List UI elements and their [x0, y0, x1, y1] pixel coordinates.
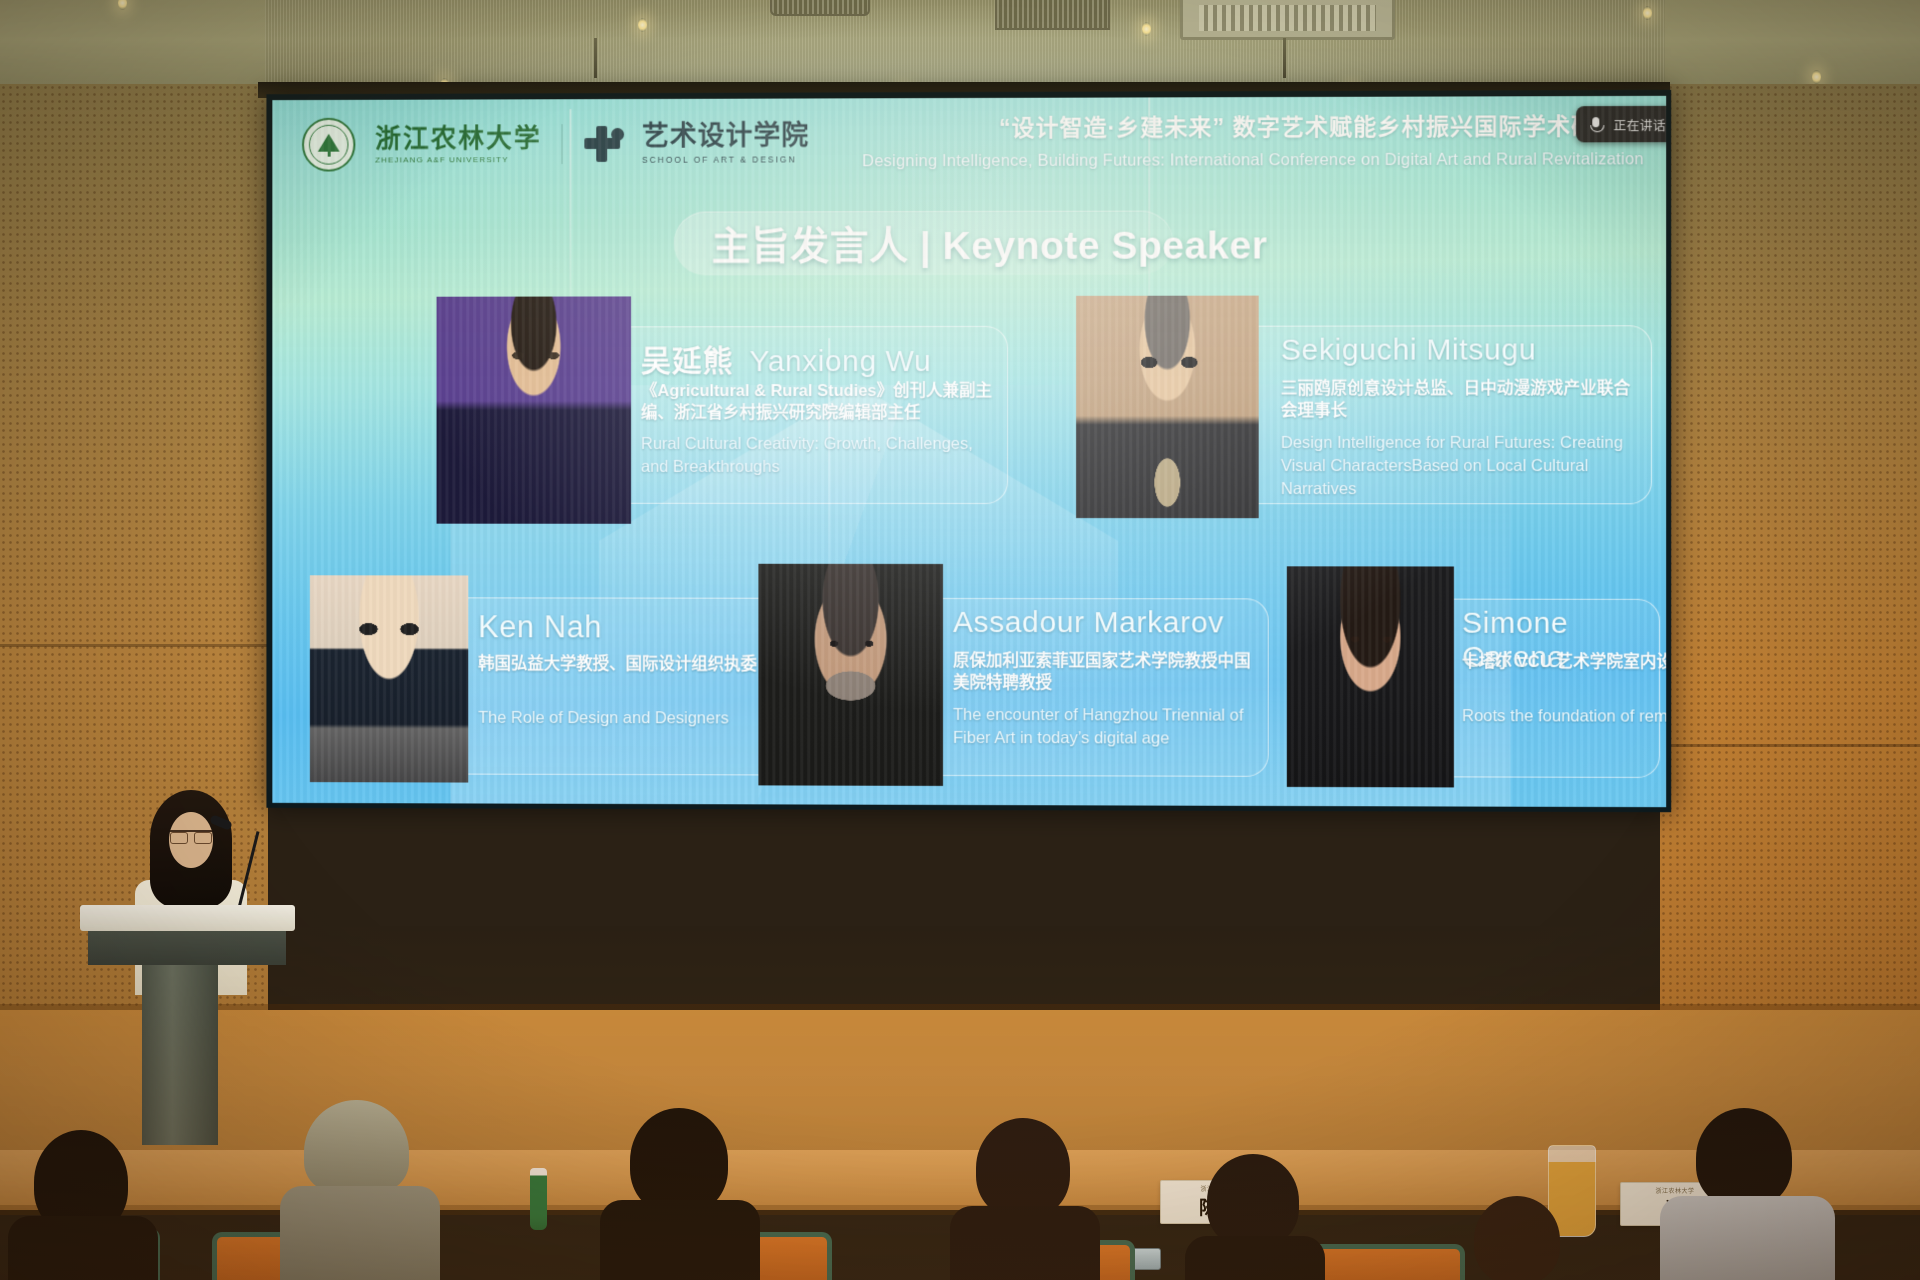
audience-head [976, 1118, 1070, 1218]
wall-seam [1660, 744, 1920, 747]
speaker-5-topic: Roots the foundation of remixing [1462, 705, 1666, 729]
audience-torso [950, 1206, 1100, 1280]
audience-torso [600, 1200, 760, 1280]
university-seal-icon [302, 118, 355, 172]
auditorium-scene: 浙江农林大学 ZHEJIANG A&F UNIVERSITY 艺术设计学院 SC… [0, 0, 1920, 1280]
speaker-3-affiliation: 韩国弘益大学教授、国际设计组织执委 [478, 653, 776, 676]
ceiling-hanger-left [594, 38, 597, 78]
audience-member [280, 1100, 440, 1280]
ceiling-spotlight [118, 0, 127, 10]
ceiling-vent-round [770, 0, 870, 16]
audience-head [1207, 1154, 1299, 1248]
speaker-2-name-en: Sekiguchi Mitsugu [1281, 333, 1537, 367]
portrait-ken-nah [310, 575, 468, 782]
ceiling-vent-rect [995, 0, 1110, 30]
wall-panel-right [1660, 84, 1920, 1134]
portrait-simone-carena [1287, 566, 1454, 787]
now-speaking-badge[interactable]: 正在讲话: [1576, 106, 1666, 143]
microphone-icon [1588, 117, 1603, 132]
podium-top [80, 905, 295, 931]
speaker-5-affiliation: 卡塔尔 VCU 艺术学院室内设计副教授 [1462, 651, 1666, 674]
audience-head [1696, 1108, 1792, 1208]
ceiling-ac-unit [1180, 0, 1395, 40]
university-wordmark: 浙江农林大学 ZHEJIANG A&F UNIVERSITY [375, 125, 541, 164]
ceiling-spotlight [1643, 6, 1652, 20]
audience-member [1660, 1108, 1835, 1280]
audience-head [1474, 1196, 1560, 1280]
now-speaking-label: 正在讲话: [1614, 114, 1667, 133]
audience-torso [1185, 1236, 1325, 1280]
speaker-1-name-cn: 吴延熊 [641, 336, 734, 380]
speaker-1-topic: Rural Cultural Creativity: Growth, Chall… [641, 433, 1000, 479]
portrait-sekiguchi-mitsugu [1076, 296, 1259, 519]
logo-divider [562, 124, 563, 164]
projection-screen: 浙江农林大学 ZHEJIANG A&F UNIVERSITY 艺术设计学院 SC… [266, 90, 1671, 812]
presenter-glasses [170, 830, 212, 840]
speaker-2-affiliation: 三丽鸥原创意设计总监、日中动漫游戏产业联合会理事长 [1281, 378, 1646, 423]
audience-member [1185, 1154, 1325, 1280]
keynote-section-heading: 主旨发言人 | Keynote Speaker [674, 211, 1174, 276]
speaker-1-name-row: 吴延熊 Yanxiong Wu [641, 336, 931, 380]
speaker-4-topic: The encounter of Hangzhou Triennial of F… [953, 704, 1254, 750]
audience-head [630, 1108, 728, 1214]
podium-column [142, 965, 218, 1145]
speaker-1-affiliation: 《Agricultural & Rural Studies》创刊人兼副主编、浙江… [641, 380, 1000, 425]
acoustic-perforation-right [1660, 84, 1920, 1134]
speaker-2-topic: Design Intelligence for Rural Futures: C… [1281, 432, 1646, 501]
speaker-1-name-en: Yanxiong Wu [749, 345, 931, 379]
conference-title-cn: “设计智造·乡建未来” 数字艺术赋能乡村振兴国际学术研讨会 [760, 112, 1643, 143]
audience-torso [280, 1186, 440, 1280]
speaker-3-topic: The Role of Design and Designers [478, 707, 776, 730]
audience-member [8, 1130, 158, 1280]
wall-seam [0, 644, 268, 647]
ceiling-spotlight [638, 18, 647, 32]
school-mark-icon [582, 124, 622, 164]
audience-hat [304, 1100, 409, 1192]
ceiling-hanger-right [1283, 38, 1286, 78]
university-name-en: ZHEJIANG A&F UNIVERSITY [375, 155, 541, 164]
podium [80, 905, 295, 1145]
slide-surface: 浙江农林大学 ZHEJIANG A&F UNIVERSITY 艺术设计学院 SC… [272, 96, 1666, 807]
audience-torso [1660, 1196, 1835, 1280]
water-bottle [530, 1168, 547, 1230]
podium-body [88, 931, 286, 965]
speaker-4-affiliation: 原保加利亚索菲亚国家艺术学院教授中国美院特聘教授 [953, 650, 1254, 695]
ceiling-spotlight [1812, 70, 1821, 84]
speaker-4-name-en: Assadour Markarov [953, 606, 1224, 640]
audience-member [950, 1118, 1100, 1280]
university-name-cn: 浙江农林大学 [375, 125, 541, 151]
audience-member [600, 1108, 760, 1280]
slide-logo-group: 浙江农林大学 ZHEJIANG A&F UNIVERSITY 艺术设计学院 SC… [302, 116, 809, 171]
speaker-3-name-en: Ken Nah [478, 609, 602, 645]
conference-title-en: Designing Intelligence, Building Futures… [760, 150, 1643, 171]
keynote-heading-text: 主旨发言人 | Keynote Speaker [712, 214, 1268, 271]
audience-member [1452, 1196, 1582, 1280]
ceiling-spotlight [1142, 22, 1151, 36]
portrait-yanxiong-wu [437, 296, 631, 523]
tree-glyph [318, 134, 340, 152]
portrait-assadour-markarov [758, 564, 943, 786]
audience-torso [8, 1216, 158, 1280]
